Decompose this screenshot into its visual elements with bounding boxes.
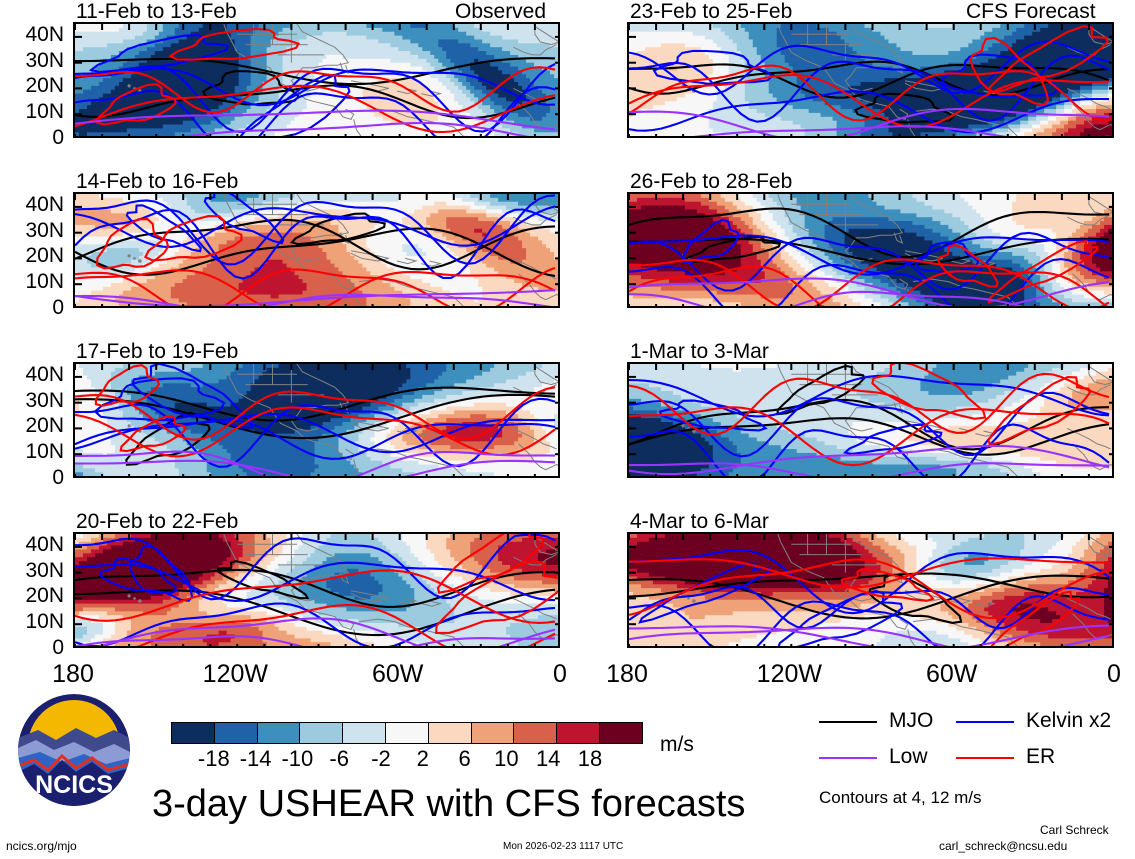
y-axis-tick-label: 20N	[0, 585, 64, 606]
panel-title: 26-Feb to 28-Feb	[630, 171, 792, 192]
map-plot-area	[73, 192, 560, 308]
x-axis-tick-label: 120W	[175, 662, 295, 687]
x-axis-tick-label: 60W	[338, 662, 458, 687]
colorbar-tick-label: 18	[560, 748, 620, 770]
ncics-logo-text: NCICS	[35, 771, 113, 799]
y-axis-tick-label: 10N	[0, 611, 64, 632]
y-axis-tick-label: 0	[0, 127, 64, 148]
legend-label: Low	[889, 746, 928, 767]
y-axis-tick-label: 0	[0, 637, 64, 658]
map-plot-area	[73, 532, 560, 648]
map-plot-area	[73, 22, 560, 138]
colorbar-swatch	[214, 723, 257, 743]
colorbar-swatch	[385, 723, 428, 743]
footer-email[interactable]: carl_schreck@ncsu.edu	[939, 840, 1067, 852]
colorbar-unit-label: m/s	[660, 734, 694, 755]
y-axis-tick-label: 30N	[0, 560, 64, 581]
colorbar-swatch	[471, 723, 514, 743]
y-axis-tick-label: 30N	[0, 220, 64, 241]
y-axis-tick-label: 40N	[0, 24, 64, 45]
contour-note: Contours at 4, 12 m/s	[819, 789, 982, 806]
y-axis-tick-label: 20N	[0, 75, 64, 96]
footer-author: Carl Schreck	[1040, 824, 1109, 836]
map-plot-area	[627, 532, 1114, 648]
footer-timestamp: Mon 2026-02-23 1117 UTC	[503, 842, 623, 852]
x-axis-tick-label: 60W	[892, 662, 1012, 687]
legend-line-swatch	[819, 757, 877, 759]
colorbar-swatch	[556, 723, 599, 743]
legend-line-swatch	[819, 721, 877, 723]
legend-line-swatch	[956, 757, 1014, 759]
legend-label: Kelvin x2	[1026, 710, 1111, 731]
y-axis-tick-label: 10N	[0, 101, 64, 122]
ncics-logo: NCICS	[18, 694, 130, 806]
panel-title: 17-Feb to 19-Feb	[76, 341, 238, 362]
x-axis-tick-label: 0	[1054, 662, 1135, 687]
map-plot-area	[627, 192, 1114, 308]
map-plot-area	[73, 362, 560, 478]
y-axis-tick-label: 0	[0, 297, 64, 318]
y-axis-tick-label: 40N	[0, 534, 64, 555]
y-axis-tick-label: 30N	[0, 390, 64, 411]
panel-title: 1-Mar to 3-Mar	[630, 341, 769, 362]
colorbar-swatch	[599, 723, 642, 743]
panel-kind-label: Observed	[455, 1, 546, 22]
panel-title: 23-Feb to 25-Feb	[630, 1, 792, 22]
x-axis-tick-label: 180	[13, 662, 133, 687]
colorbar-swatch	[257, 723, 300, 743]
panel-kind-label: CFS Forecast	[966, 1, 1096, 22]
panel-title: 11-Feb to 13-Feb	[76, 1, 237, 22]
y-axis-tick-label: 30N	[0, 50, 64, 71]
page-title: 3-day USHEAR with CFS forecasts	[152, 785, 745, 823]
colorbar	[171, 722, 643, 744]
y-axis-tick-label: 0	[0, 467, 64, 488]
colorbar-swatch	[299, 723, 342, 743]
panel-title: 14-Feb to 16-Feb	[76, 171, 238, 192]
legend-label: MJO	[889, 710, 933, 731]
colorbar-swatch	[513, 723, 556, 743]
y-axis-tick-label: 20N	[0, 415, 64, 436]
colorbar-swatch	[172, 723, 214, 743]
x-axis-tick-label: 120W	[729, 662, 849, 687]
panel-title: 20-Feb to 22-Feb	[76, 511, 238, 532]
map-plot-area	[627, 362, 1114, 478]
y-axis-tick-label: 10N	[0, 441, 64, 462]
y-axis-tick-label: 40N	[0, 194, 64, 215]
map-plot-area	[627, 22, 1114, 138]
legend-label: ER	[1026, 746, 1055, 767]
legend-line-swatch	[956, 721, 1014, 723]
x-axis-tick-label: 180	[567, 662, 687, 687]
y-axis-tick-label: 20N	[0, 245, 64, 266]
footer-site[interactable]: ncics.org/mjo	[6, 840, 77, 852]
y-axis-tick-label: 40N	[0, 364, 64, 385]
colorbar-swatch	[428, 723, 471, 743]
y-axis-tick-label: 10N	[0, 271, 64, 292]
colorbar-swatch	[342, 723, 385, 743]
panel-title: 4-Mar to 6-Mar	[630, 511, 769, 532]
